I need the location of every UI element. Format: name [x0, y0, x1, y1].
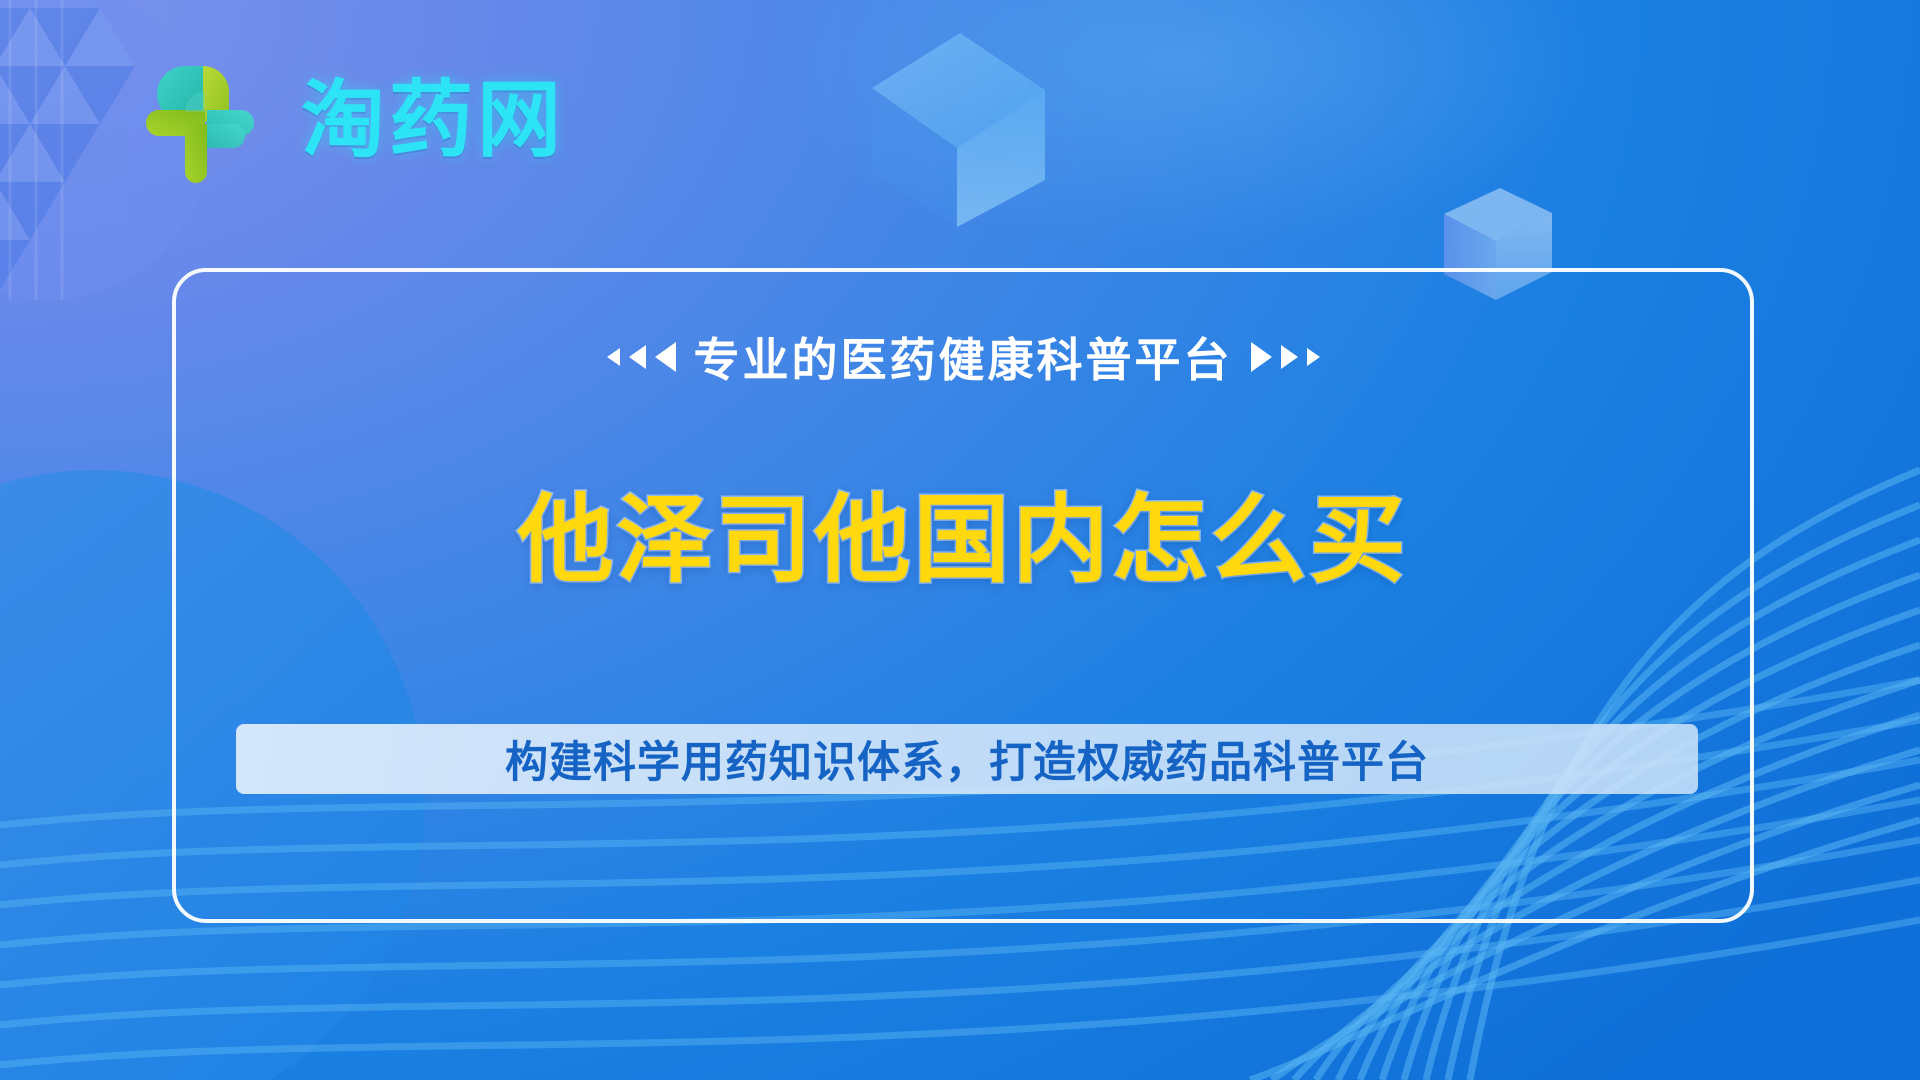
triangle-left-arrows-icon	[607, 342, 676, 372]
stripe-texture	[10, 0, 62, 300]
medical-cross-icon	[133, 52, 279, 187]
top-glow	[760, 0, 1600, 250]
page-title: 他泽司他国内怎么买	[176, 462, 1750, 601]
footer-banner: 构建科学用药知识体系，打造权威药品科普平台	[236, 724, 1698, 794]
tagline-row: 专业的医药健康科普平台	[176, 324, 1750, 390]
content-card: 专业的医药健康科普平台 他泽司他国内怎么买 构建科学用药知识体系，打造权威药品科…	[172, 268, 1754, 923]
footer-banner-text: 构建科学用药知识体系，打造权威药品科普平台	[505, 728, 1429, 790]
brand-logo[interactable]: 淘药网	[133, 52, 565, 187]
brand-name: 淘药网	[301, 78, 565, 162]
triangle-right-arrows-icon	[1251, 342, 1320, 372]
tagline-text: 专业的医药健康科普平台	[694, 324, 1233, 390]
isometric-cube-icon	[872, 33, 1045, 227]
banner-canvas: 淘药网 专业的医药健康科普平台 他泽司他国内怎么买 构建科学用药知识体系，打造权…	[0, 0, 1920, 1080]
